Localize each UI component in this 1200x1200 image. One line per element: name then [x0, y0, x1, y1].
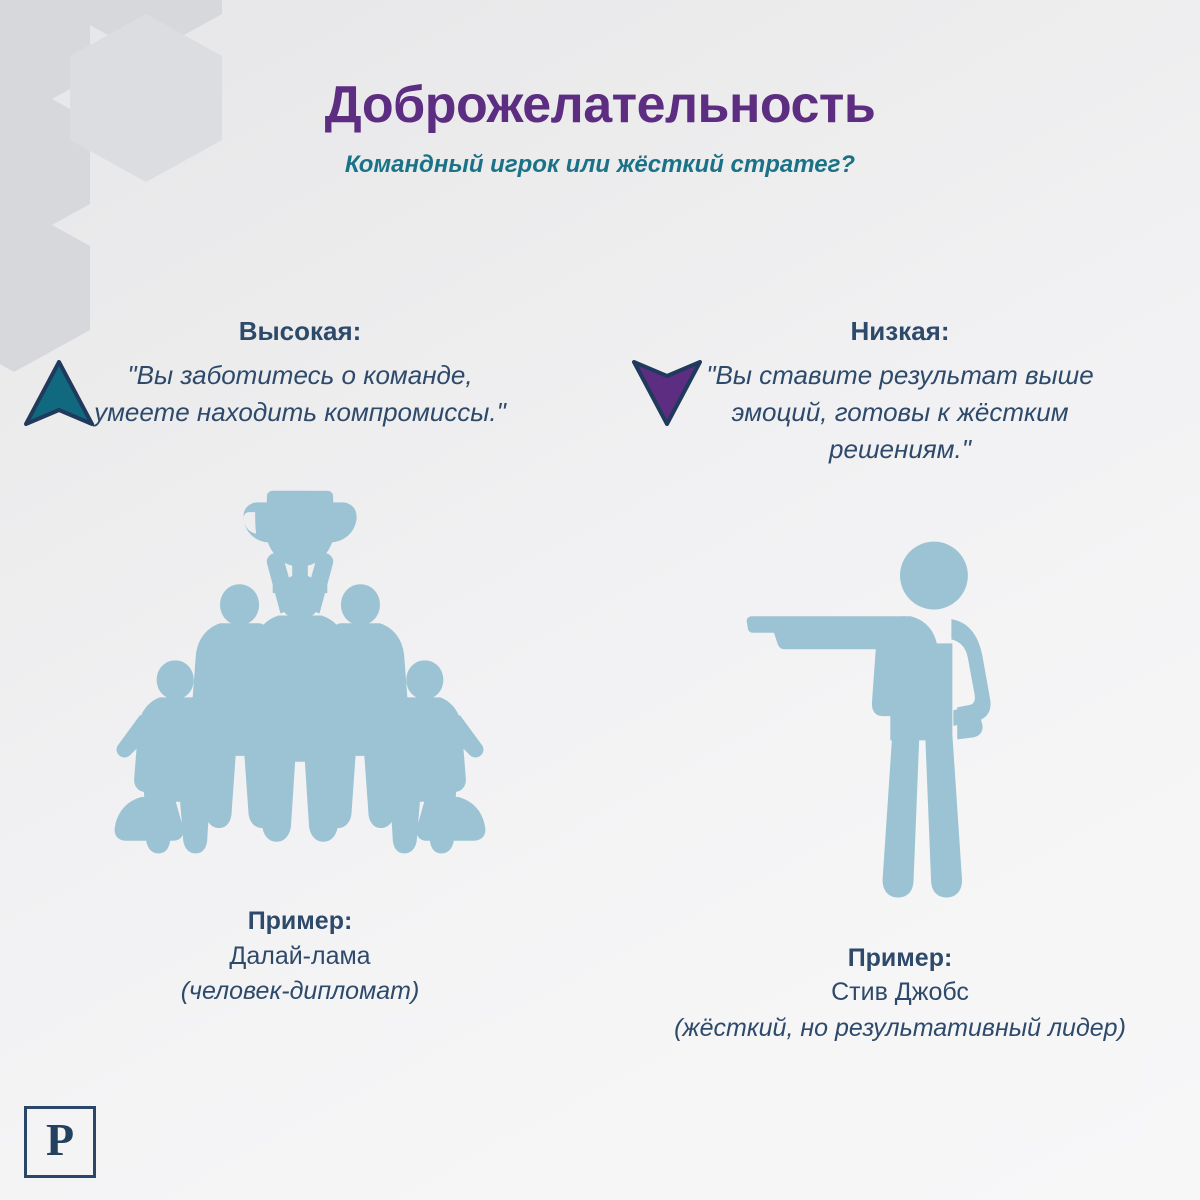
hexagon-shape: [70, 0, 222, 56]
poster-header: Доброжелательность Командный игрок или ж…: [0, 78, 1200, 179]
column-low-agreeableness: Низкая: "Вы ставите результат выше эмоци…: [600, 316, 1200, 1156]
page-title: Доброжелательность: [0, 78, 1200, 133]
page-subtitle: Командный игрок или жёсткий стратег?: [0, 151, 1200, 180]
pointing-boss-icon: [600, 486, 1200, 916]
level-label-low: Низкая:: [600, 316, 1200, 347]
example-block-high: Пример: Далай-лама (человек-дипломат): [40, 905, 560, 1009]
example-note: (человек-дипломат): [40, 975, 560, 1009]
column-high-agreeableness: Высокая: "Вы заботитесь о команде, умеет…: [0, 316, 600, 1156]
brand-logo-letter: P: [46, 1117, 74, 1167]
comparison-columns: Высокая: "Вы заботитесь о команде, умеет…: [0, 316, 1200, 1156]
example-note: (жёсткий, но результативный лидер): [640, 1012, 1160, 1046]
infographic-poster: Доброжелательность Командный игрок или ж…: [0, 0, 1200, 1200]
column-heading-block: Низкая: "Вы ставите результат выше эмоци…: [600, 316, 1200, 468]
chevron-up-icon: [22, 356, 96, 430]
column-heading-block: Высокая: "Вы заботитесь о команде, умеет…: [0, 316, 600, 431]
brand-logo: P: [24, 1106, 96, 1178]
example-name: Далай-лама: [40, 940, 560, 974]
level-quote-low: "Вы ставите результат выше эмоций, готов…: [685, 357, 1115, 468]
example-name: Стив Джобс: [640, 976, 1160, 1010]
level-quote-high: "Вы заботитесь о команде, умеете находит…: [85, 357, 515, 431]
team-with-trophy-icon: [0, 449, 600, 879]
example-label: Пример:: [640, 942, 1160, 975]
level-label-high: Высокая:: [0, 316, 600, 347]
example-block-low: Пример: Стив Джобс (жёсткий, но результа…: [640, 942, 1160, 1046]
chevron-down-icon: [630, 356, 704, 430]
example-label: Пример:: [40, 905, 560, 938]
